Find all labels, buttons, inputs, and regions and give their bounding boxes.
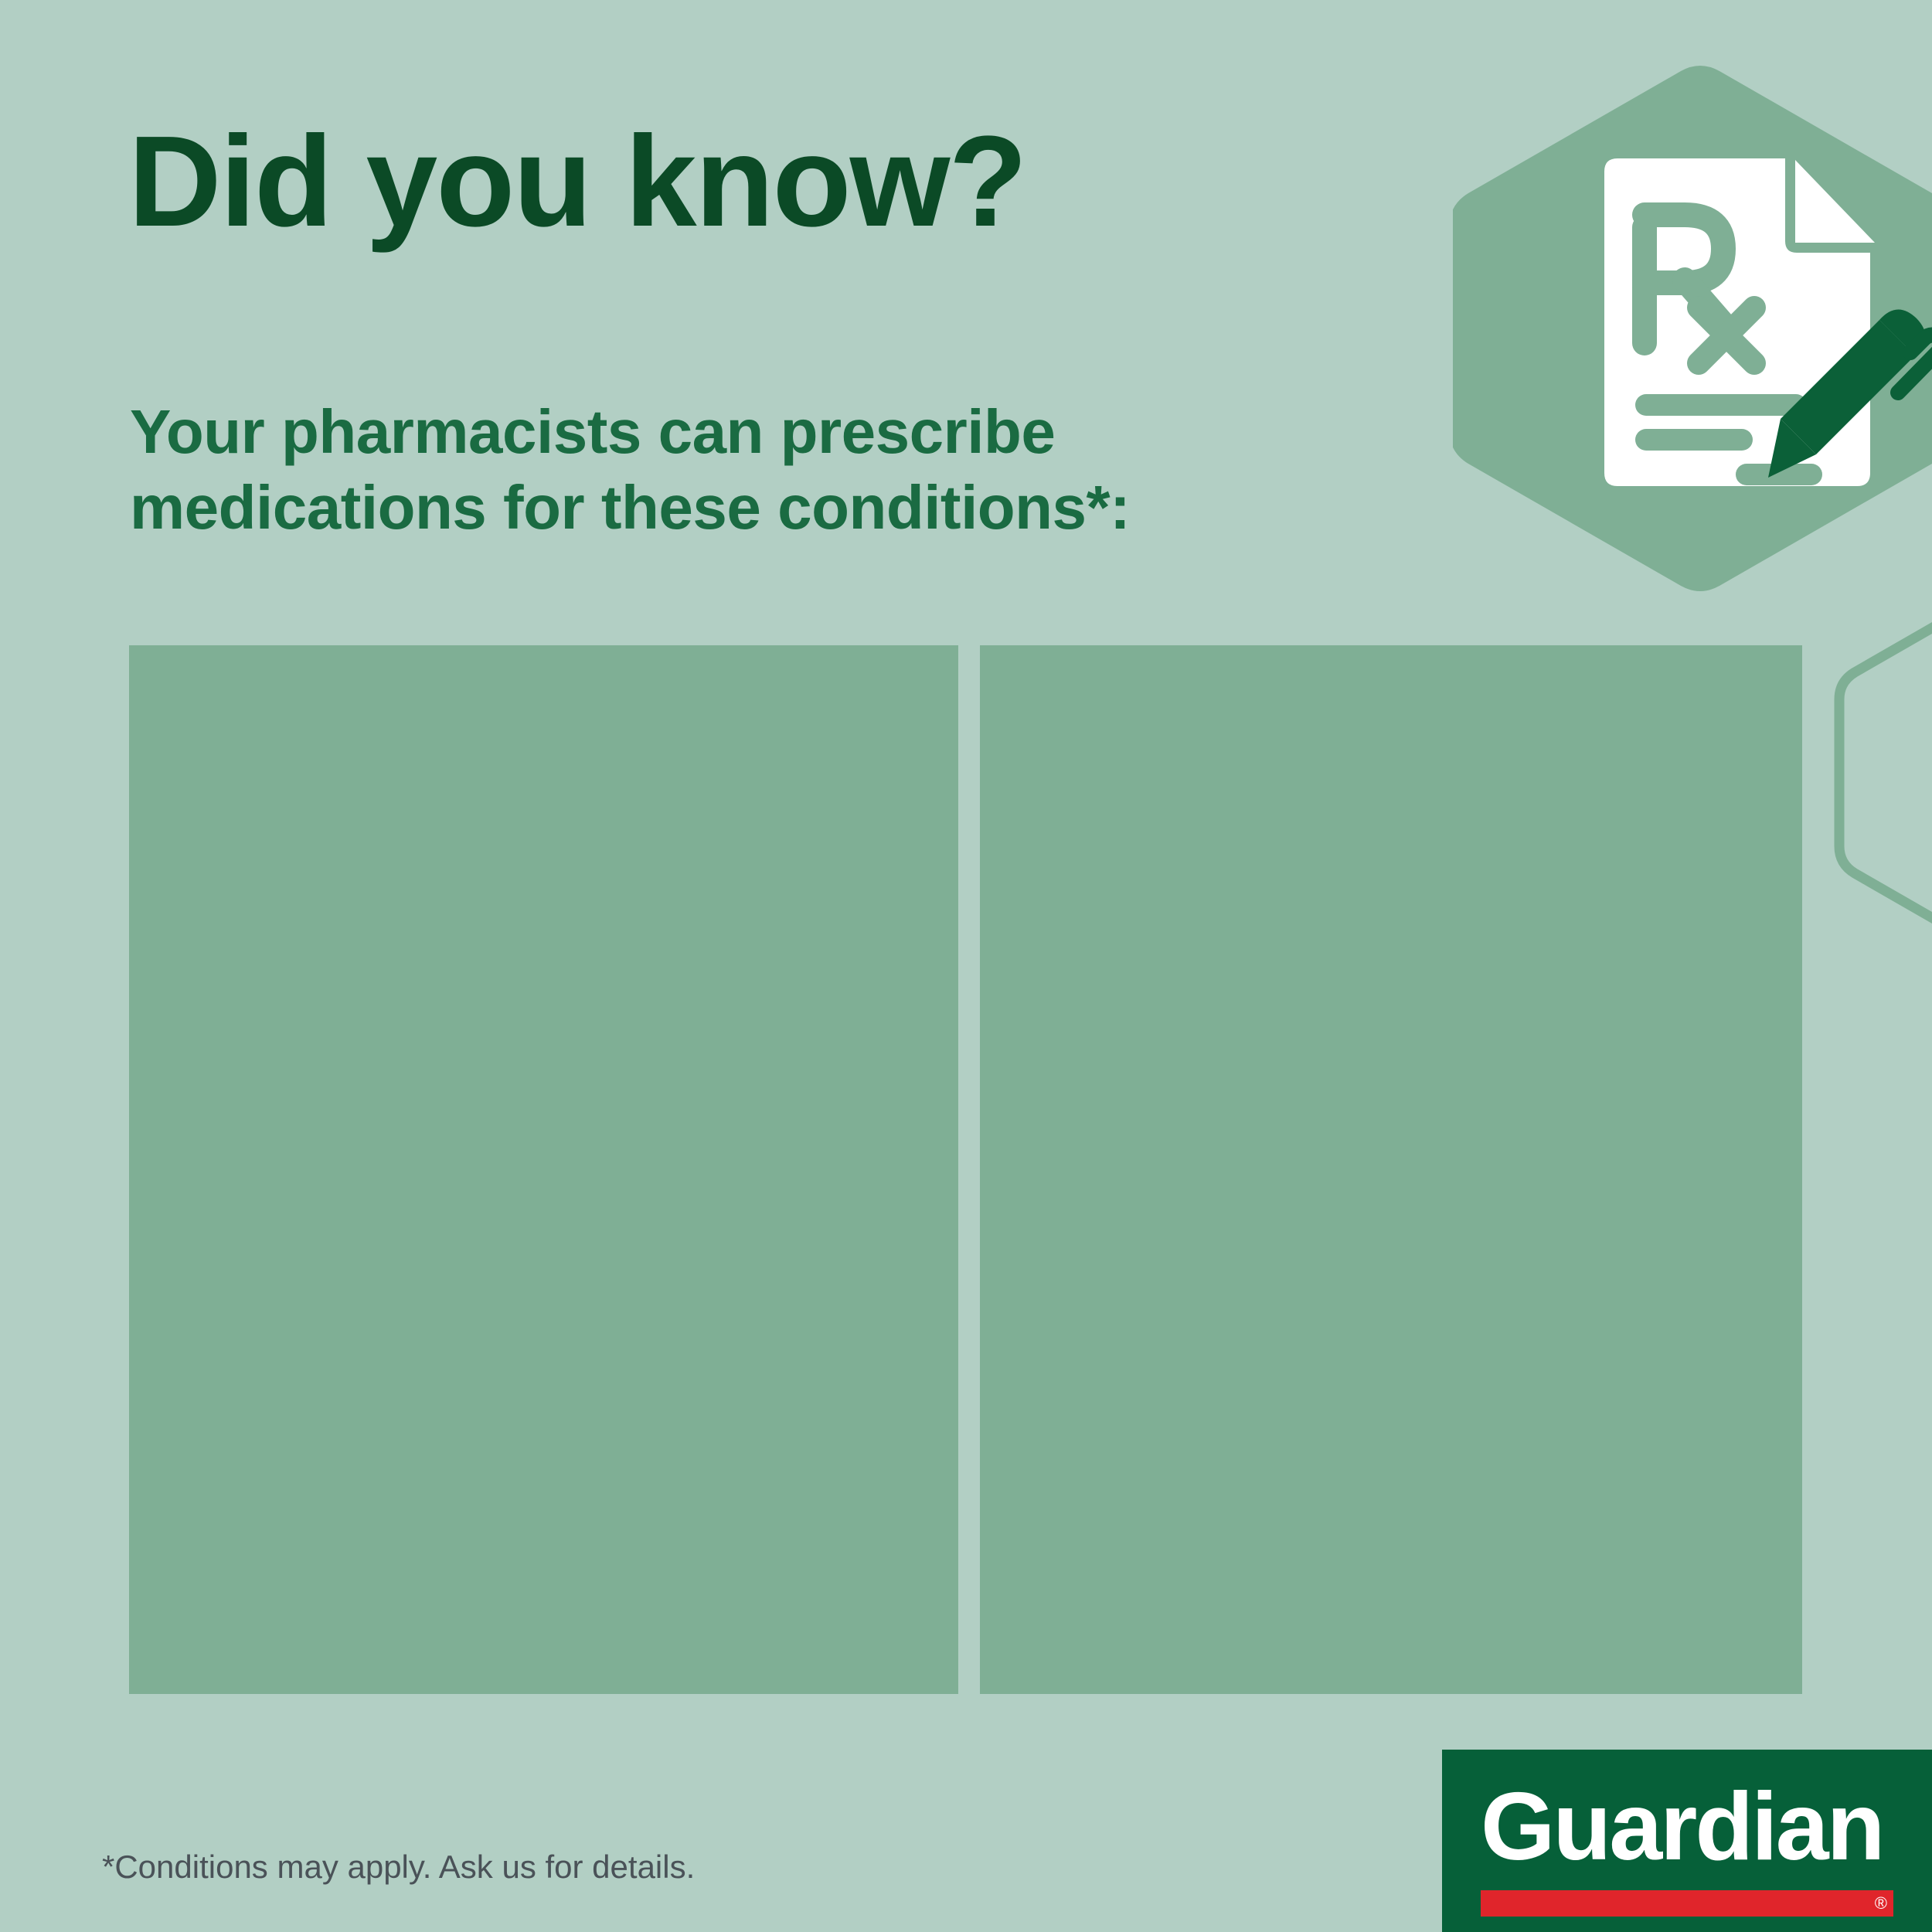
pen-barrel bbox=[1781, 320, 1915, 454]
rx-x-stroke-1 bbox=[1699, 308, 1754, 363]
document-body bbox=[1604, 158, 1870, 486]
registered-trademark-icon: ® bbox=[1875, 1892, 1887, 1915]
guardian-logo-bar: ® bbox=[1481, 1890, 1893, 1917]
prescription-icon-hexagon bbox=[1453, 39, 1932, 618]
document-text-line-2 bbox=[1635, 429, 1753, 451]
content-panel-right bbox=[980, 645, 1802, 1694]
hexagon-shape bbox=[1453, 66, 1932, 591]
prescription-icon-svg bbox=[1453, 39, 1932, 618]
pen-clip bbox=[1898, 335, 1932, 393]
rx-r-bowl bbox=[1645, 215, 1723, 283]
rx-r-stem bbox=[1632, 215, 1657, 355]
pen-icon bbox=[1768, 309, 1932, 478]
document-signature-line bbox=[1736, 464, 1822, 485]
content-panel-left bbox=[129, 645, 958, 1694]
rx-r-leg bbox=[1685, 280, 1725, 326]
footnote-disclaimer: *Conditions may apply. Ask us for detail… bbox=[102, 1849, 695, 1886]
hexagon-outline-path bbox=[1839, 597, 1932, 949]
guardian-logo: Guardian ® bbox=[1442, 1750, 1932, 1932]
guardian-wordmark: Guardian bbox=[1481, 1779, 1893, 1875]
rx-x-stroke-2 bbox=[1699, 308, 1754, 363]
pen-cap bbox=[1879, 309, 1926, 355]
document-text-line-1 bbox=[1635, 394, 1807, 416]
pen-tip bbox=[1768, 419, 1816, 478]
document-folded-corner bbox=[1795, 160, 1875, 243]
page-subtitle: Your pharmacists can prescribe medicatio… bbox=[130, 394, 1335, 545]
poster-canvas: Did you know? Your pharmacists can presc… bbox=[0, 0, 1932, 1932]
page-title: Did you know? bbox=[128, 117, 1026, 247]
